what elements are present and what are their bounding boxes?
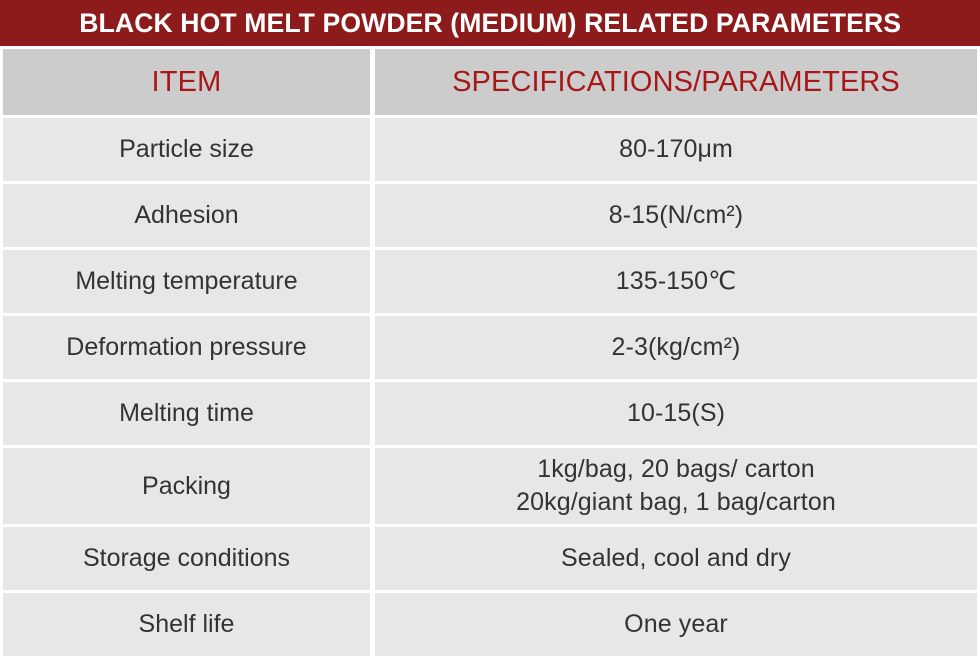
row-spec-value: 80-170μm (619, 133, 733, 166)
row-spec-value: 10-15(S) (627, 397, 725, 430)
table-title-bar: BLACK HOT MELT POWDER (MEDIUM) RELATED P… (0, 0, 980, 46)
row-spec-value: 135-150℃ (616, 265, 737, 298)
column-header-specifications-label: SPECIFICATIONS/PARAMETERS (452, 66, 900, 99)
row-item-cell: Particle size (3, 118, 370, 181)
row-spec-cell: 10-15(S) (375, 382, 977, 445)
row-item-cell: Packing (3, 448, 370, 524)
row-spec-value: 2-3(kg/cm²) (612, 331, 741, 364)
row-item-cell: Shelf life (3, 593, 370, 656)
row-item-label: Melting time (119, 397, 254, 430)
row-spec-cell: 2-3(kg/cm²) (375, 316, 977, 379)
row-spec-cell: 8-15(N/cm²) (375, 184, 977, 247)
parameters-table: BLACK HOT MELT POWDER (MEDIUM) RELATED P… (0, 0, 980, 654)
table-row: Deformation pressure 2-3(kg/cm²) (0, 316, 980, 382)
row-item-label: Deformation pressure (66, 331, 306, 364)
row-item-label: Packing (142, 470, 231, 503)
table-row: Shelf life One year (0, 593, 980, 659)
row-spec-cell: 1kg/bag, 20 bags/ carton 20kg/giant bag,… (375, 448, 977, 524)
table-row: Storage conditions Sealed, cool and dry (0, 527, 980, 593)
column-header-item-label: ITEM (151, 66, 221, 99)
row-item-label: Melting temperature (75, 265, 297, 298)
table-header-row: ITEM SPECIFICATIONS/PARAMETERS (0, 46, 980, 118)
row-item-cell: Melting time (3, 382, 370, 445)
row-spec-value: 1kg/bag, 20 bags/ carton 20kg/giant bag,… (516, 453, 836, 519)
row-item-label: Particle size (119, 133, 254, 166)
row-spec-value: One year (624, 608, 728, 641)
row-spec-cell: 135-150℃ (375, 250, 977, 313)
row-item-cell: Melting temperature (3, 250, 370, 313)
row-spec-cell: One year (375, 593, 977, 656)
row-item-cell: Storage conditions (3, 527, 370, 590)
column-header-item: ITEM (3, 49, 370, 115)
row-item-cell: Deformation pressure (3, 316, 370, 379)
table-row: Particle size 80-170μm (0, 118, 980, 184)
table-row: Melting time 10-15(S) (0, 382, 980, 448)
row-spec-value: 8-15(N/cm²) (609, 199, 743, 232)
row-item-cell: Adhesion (3, 184, 370, 247)
row-spec-value: Sealed, cool and dry (561, 542, 791, 575)
row-spec-cell: Sealed, cool and dry (375, 527, 977, 590)
row-spec-cell: 80-170μm (375, 118, 977, 181)
table-row: Packing 1kg/bag, 20 bags/ carton 20kg/gi… (0, 448, 980, 527)
table-row: Melting temperature 135-150℃ (0, 250, 980, 316)
table-title: BLACK HOT MELT POWDER (MEDIUM) RELATED P… (79, 10, 901, 37)
row-item-label: Storage conditions (83, 542, 290, 575)
table-row: Adhesion 8-15(N/cm²) (0, 184, 980, 250)
row-item-label: Adhesion (134, 199, 238, 232)
column-header-specifications: SPECIFICATIONS/PARAMETERS (375, 49, 977, 115)
row-item-label: Shelf life (139, 608, 235, 641)
